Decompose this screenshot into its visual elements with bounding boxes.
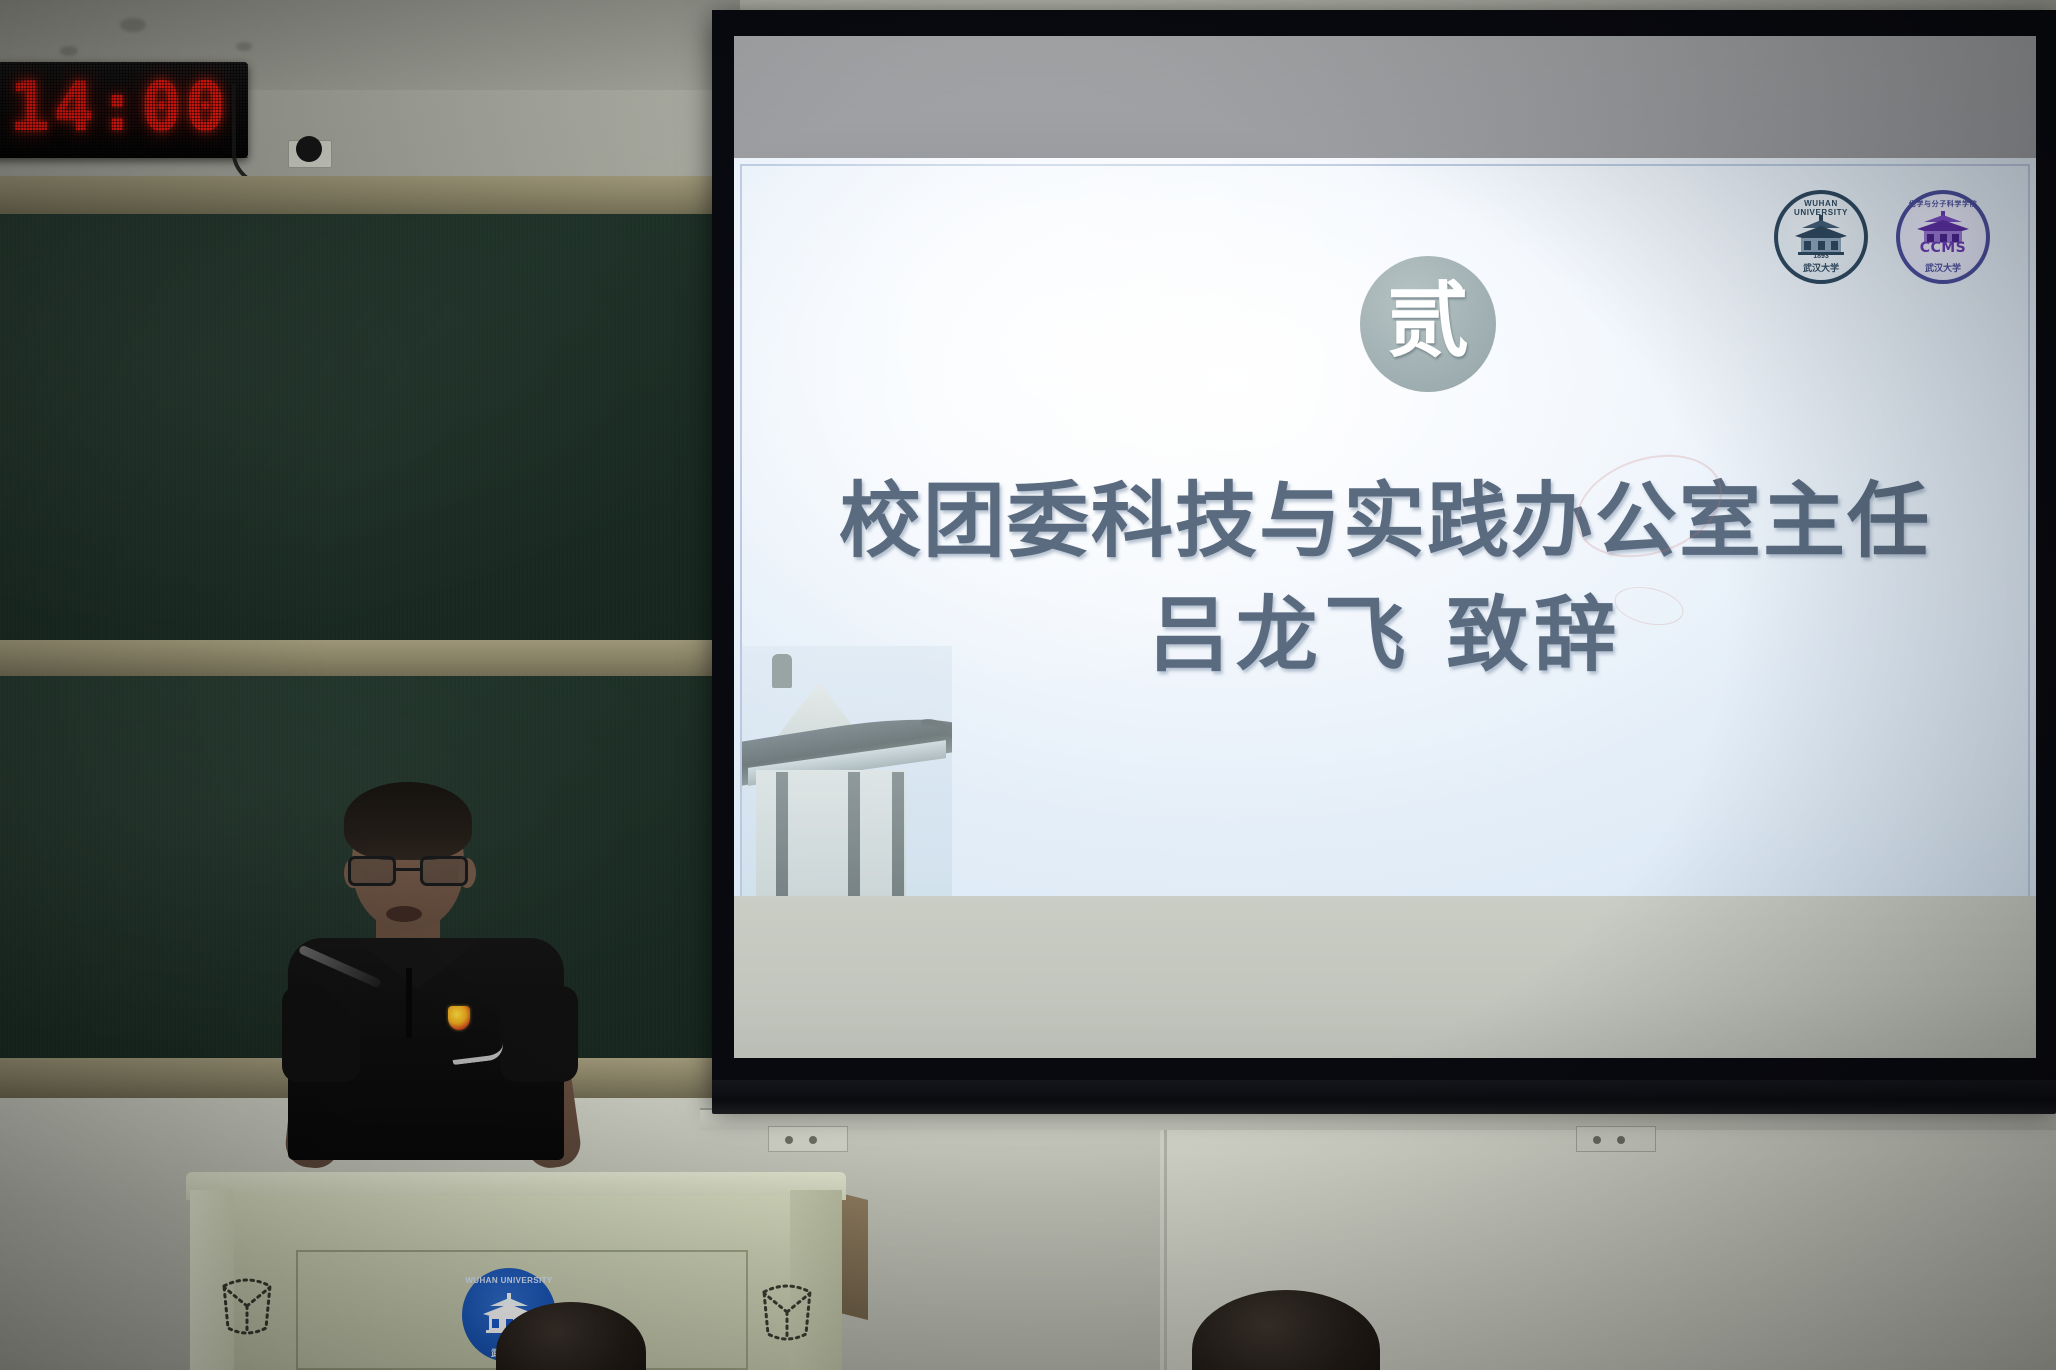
projection-screen: WUHAN UNIVERSITY 1893 武汉大学 (712, 10, 2056, 1106)
projection-screen-surface: WUHAN UNIVERSITY 1893 武汉大学 (734, 36, 2036, 1058)
lecture-hall-scene: 14:00 WUHAN UNIVERSITY (0, 0, 2056, 1370)
photo-column (776, 772, 788, 896)
screen-unused-top-band (734, 36, 2036, 158)
podium-speaker-grille-right (756, 1278, 818, 1346)
podium-speaker-grille-left (216, 1272, 278, 1340)
clock-time-display: 14:00 (9, 74, 229, 146)
photo-finial (772, 654, 792, 688)
badge-character: 贰 (1387, 280, 1469, 368)
outlet-plug (296, 136, 322, 162)
slide-title-line-1: 校团委科技与实践办公室主任 (734, 454, 2036, 573)
photo-column (848, 772, 860, 896)
eyeglasses-icon (348, 856, 470, 886)
slide-logo-row: WUHAN UNIVERSITY 1893 武汉大学 (1774, 190, 1990, 284)
photo-column (892, 772, 904, 896)
speaker-sleeve-right (500, 986, 578, 1082)
section-number-badge: 贰 (1360, 256, 1496, 392)
league-badge-pin (448, 1006, 470, 1030)
led-clock: 14:00 (0, 62, 248, 158)
wuhan-university-logo: WUHAN UNIVERSITY 1893 武汉大学 (1774, 190, 1868, 284)
speaker-hair (344, 782, 472, 860)
screen-unused-bottom-band (734, 896, 2036, 1058)
emblem-arc-text: WUHAN UNIVERSITY (462, 1276, 556, 1285)
lens-right (420, 856, 468, 886)
wall-mark (120, 18, 146, 32)
chalkboard-top-rail (0, 176, 728, 216)
speaker-mouth (386, 906, 422, 922)
wall-mark (60, 46, 78, 56)
glasses-bridge (396, 868, 420, 871)
presentation-slide: WUHAN UNIVERSITY 1893 武汉大学 (734, 158, 2036, 896)
logo-cn-text: 武汉大学 (1900, 261, 1986, 274)
chalkboard-middle-rail (0, 640, 728, 678)
screen-mount-bracket (1576, 1126, 1656, 1152)
chalkboard-panel-upper (0, 214, 728, 642)
screen-weighted-bar (712, 1080, 2056, 1114)
led-clock-face: 14:00 (0, 62, 248, 158)
wall-seam (1164, 1090, 1167, 1370)
lens-left (348, 856, 396, 886)
speaker-shirt-placket (406, 968, 412, 1038)
screen-mount-bracket (768, 1126, 848, 1152)
pavilion-photo (742, 646, 952, 896)
logo-year: 1893 (1778, 253, 1864, 260)
wall-mark (236, 42, 252, 51)
ccms-wordmark: CCMS (1900, 240, 1986, 256)
ccms-logo: 化学与分子科学学院 CCMS 武汉大学 (1896, 190, 1990, 284)
speaker-sleeve-left (282, 986, 360, 1082)
logo-arc-text: 化学与分子科学学院 (1900, 199, 1986, 209)
pavilion-icon (1790, 214, 1852, 256)
logo-cn-text: 武汉大学 (1778, 261, 1864, 274)
